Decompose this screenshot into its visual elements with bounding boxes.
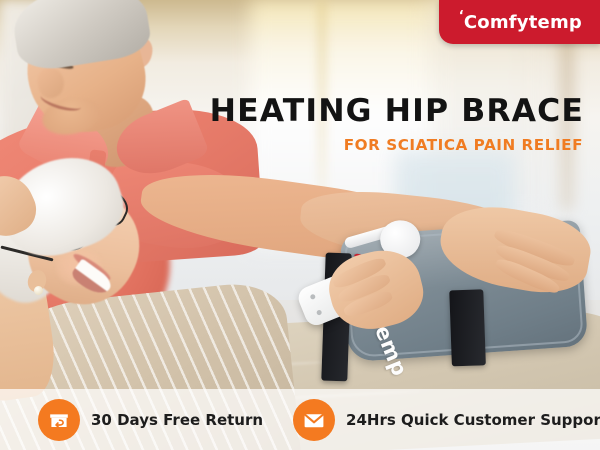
page-title: HEATING HIP BRACE [210,95,584,127]
brand-logo-badge[interactable]: ‘Comfytemp [439,0,600,44]
feature-free-return[interactable]: 30 Days Free Return [38,399,263,441]
brand-name: ‘Comfytemp [459,9,582,33]
brace-velcro-strap-center [449,289,486,366]
feature-bar: 30 Days Free Return 24Hrs Quick Customer… [0,389,600,450]
brand-name-text: Comfytemp [464,12,582,33]
feature-label: 24Hrs Quick Customer Support [346,411,600,429]
envelope-icon [293,399,335,441]
feature-customer-support[interactable]: 24Hrs Quick Customer Support [293,399,600,441]
page-subtitle: FOR SCIATICA PAIN RELIEF [210,136,583,154]
return-box-icon [38,399,80,441]
advertisement-banner: ‘omfytemp ‘Comfytemp HEATING HIP B [0,0,600,450]
feature-label: 30 Days Free Return [91,411,263,429]
person-woman [0,166,254,406]
woman-pearl-earring [34,286,43,295]
lifestyle-photo: ‘omfytemp [0,0,600,450]
headline-block: HEATING HIP BRACE FOR SCIATICA PAIN RELI… [210,95,584,154]
